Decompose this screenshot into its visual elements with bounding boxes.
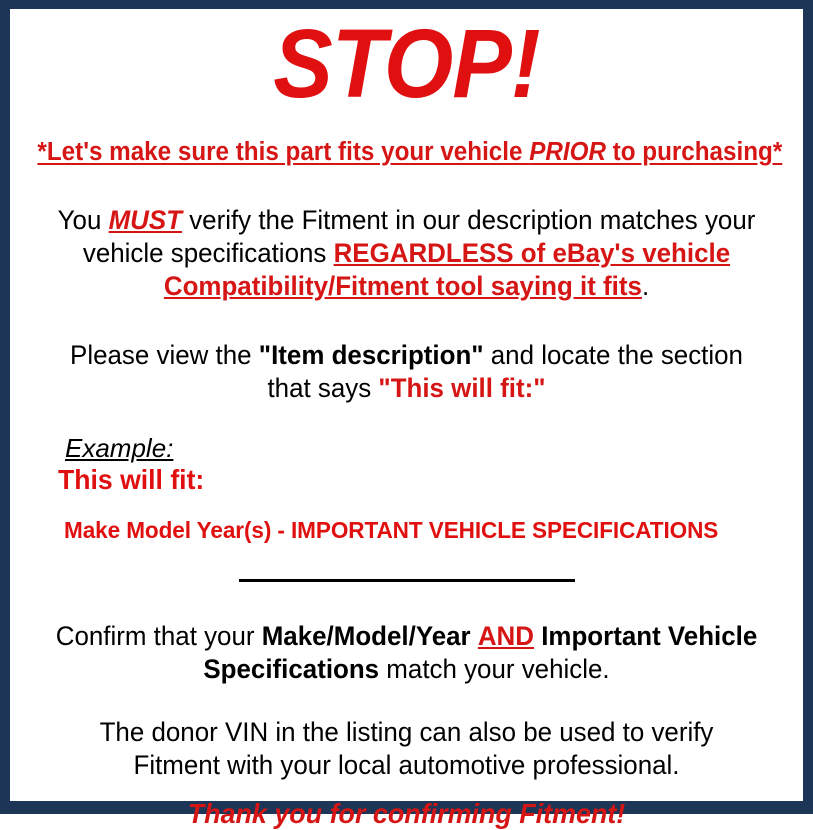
divider-wrapper [18,544,795,590]
subtitle-before: *Let's make sure this part fits your veh… [37,138,529,166]
itemdesc-seg-1: Please view the [70,340,259,370]
item-description-label: "Item description" [259,340,484,370]
confirm-seg-1: Confirm that your [56,621,262,651]
must-verify-paragraph: You MUST verify the Fitment in our descr… [34,166,780,303]
section-divider [239,579,575,582]
example-block: Example: This will fit: Make Model Year(… [18,405,795,544]
stop-headline: STOP! [49,9,764,112]
make-model-year-emphasis: Make/Model/Year [262,621,471,651]
fitment-notice-body: STOP! *Let's make sure this part fits yo… [10,9,803,801]
must-emphasis: MUST [109,205,182,235]
subtitle-prior-emphasis: PRIOR [529,138,606,166]
subtitle-line: *Let's make sure this part fits your veh… [37,112,775,166]
must-seg-1: You [58,205,109,235]
this-will-fit-quote: "This will fit:" [378,373,545,403]
confirm-seg-2: match your vehicle. [379,654,610,684]
example-label: Example: [65,435,173,462]
example-spec-line: Make Model Year(s) - IMPORTANT VEHICLE S… [64,518,766,544]
and-emphasis: AND [478,621,534,651]
subtitle-after: to purchasing* [606,138,782,166]
vin-paragraph: The donor VIN in the listing can also be… [34,686,780,782]
confirm-paragraph: Confirm that your Make/Model/Year AND Im… [34,590,780,686]
fitment-notice-frame: STOP! *Let's make sure this part fits yo… [0,0,813,814]
thank-you-line: Thank you for confirming Fitment! [34,782,780,830]
must-seg-3: . [642,271,649,301]
example-fit-header: This will fit: [58,464,758,496]
item-description-paragraph: Please view the "Item description" and l… [34,303,780,405]
